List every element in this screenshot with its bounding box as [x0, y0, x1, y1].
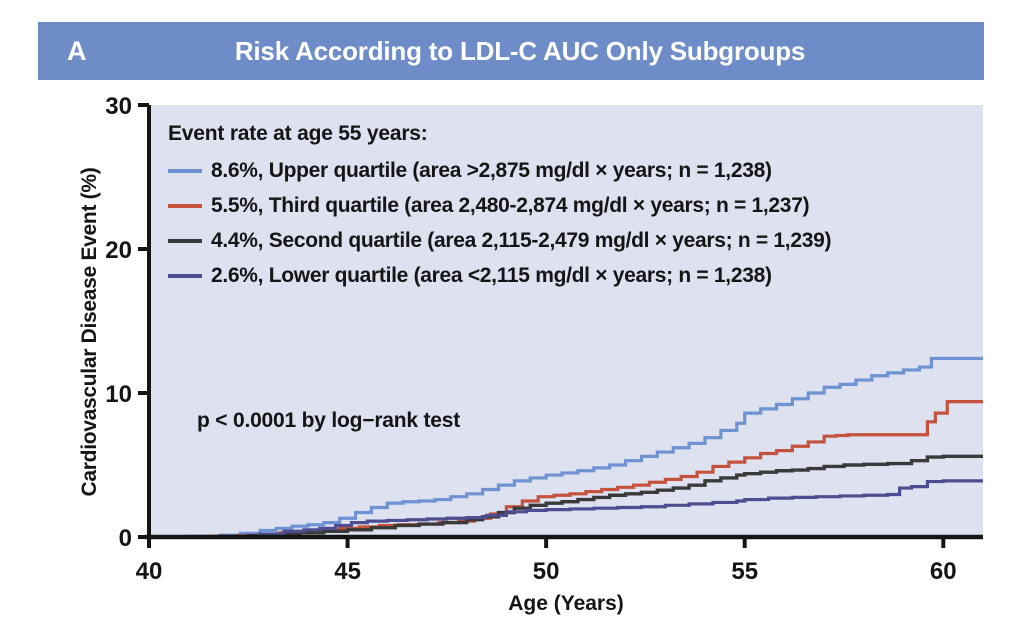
legend-swatch-second-quartile — [168, 239, 202, 243]
y-tick-label: 30 — [105, 93, 132, 120]
y-tick-label: 10 — [105, 381, 132, 408]
legend-item-upper-quartile: 8.6%, Upper quartile (area >2,875 mg/dl … — [168, 153, 968, 188]
y-tick-label: 0 — [119, 525, 132, 552]
x-tick-label: 55 — [731, 558, 758, 585]
chart-legend: Event rate at age 55 years: 8.6%, Upper … — [168, 122, 968, 293]
figure-panel: A Risk According to LDL-C AUC Only Subgr… — [0, 0, 1024, 630]
legend-label-lower-quartile: 2.6%, Lower quartile (area <2,115 mg/dl … — [211, 264, 772, 288]
y-axis-title: Cardiovascular Disease Event (%) — [78, 102, 102, 562]
p-value-annotation: p < 0.0001 by log−rank test — [197, 409, 460, 433]
x-tick-label: 45 — [334, 558, 361, 585]
legend-label-third-quartile: 5.5%, Third quartile (area 2,480-2,874 m… — [211, 194, 809, 218]
legend-item-third-quartile: 5.5%, Third quartile (area 2,480-2,874 m… — [168, 188, 968, 223]
y-tick-label: 20 — [105, 237, 132, 264]
legend-item-second-quartile: 4.4%, Second quartile (area 2,115-2,479 … — [168, 223, 968, 258]
legend-swatch-third-quartile — [168, 204, 202, 208]
legend-label-upper-quartile: 8.6%, Upper quartile (area >2,875 mg/dl … — [211, 159, 772, 183]
chart-svg: 01020304045505560 — [0, 0, 1024, 630]
legend-item-lower-quartile: 2.6%, Lower quartile (area <2,115 mg/dl … — [168, 258, 968, 293]
x-axis-title: Age (Years) — [149, 592, 983, 616]
legend-title: Event rate at age 55 years: — [168, 122, 968, 146]
legend-swatch-upper-quartile — [168, 169, 202, 173]
legend-label-second-quartile: 4.4%, Second quartile (area 2,115-2,479 … — [211, 229, 831, 253]
legend-swatch-lower-quartile — [168, 274, 202, 278]
x-tick-label: 50 — [533, 558, 560, 585]
x-tick-label: 40 — [136, 558, 163, 585]
x-tick-label: 60 — [930, 558, 957, 585]
chart-plot-area: 01020304045505560 — [0, 0, 1024, 630]
